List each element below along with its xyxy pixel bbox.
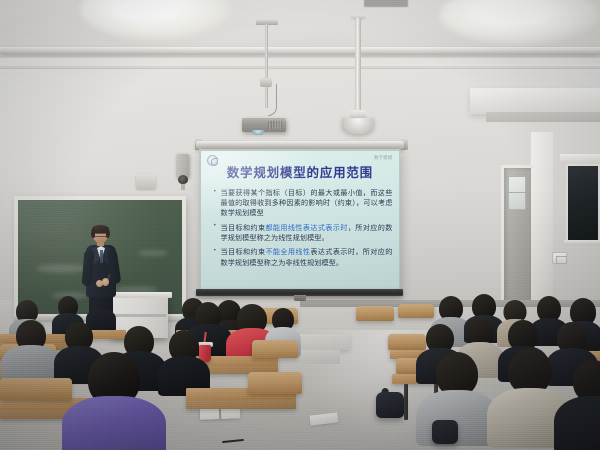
presentation-slide: 数学建模 数学规划模型的应用范围 当要获得某个指标（目标）的最大或最小值，而这些…	[201, 151, 399, 289]
wall-pillar	[531, 132, 553, 314]
window	[566, 164, 600, 242]
student-purple-hoodie	[68, 352, 160, 450]
screen-pull-tab[interactable]	[294, 295, 306, 301]
ceiling-vent	[364, 0, 408, 7]
projection-screen-surface: 数学建模 数学规划模型的应用范围 当要获得某个指标（目标）的最大或最小值，而这些…	[201, 151, 399, 289]
lecturer-hair-side-right	[106, 229, 110, 238]
university-emblem-icon	[207, 155, 218, 166]
list-item	[160, 330, 208, 392]
door-glass-divider	[508, 192, 526, 193]
chair-back	[252, 340, 298, 358]
ceiling-soffit	[470, 88, 600, 114]
platform-step-upper	[300, 334, 350, 350]
window-sill	[564, 240, 600, 245]
body-text: 当目标和约束	[221, 247, 266, 256]
list-item	[558, 360, 600, 450]
slide-watermark: 数学建模	[374, 155, 392, 161]
ceiling-light-right-core	[480, 8, 550, 25]
camera-mount	[181, 184, 185, 190]
lecturer-tie	[100, 250, 103, 263]
highlighted-text: 不能全用线性	[265, 247, 310, 256]
screen-roller-housing	[196, 141, 404, 149]
slide-bullet-list: 当要获得某个指标（目标）的最大或最小值，而这些最值的取得收到多种因素的影响时（约…	[208, 188, 393, 267]
chair-back	[356, 306, 394, 321]
slide-bullet: 当目标和约束都能用线性表达式表示时，所对应的数学规划模型称之为线性规划模型。	[212, 223, 393, 243]
chalk-smudge	[138, 250, 168, 256]
wall-speaker	[136, 174, 156, 189]
desk-leg	[404, 384, 408, 420]
backpack	[432, 420, 458, 444]
camera-lens	[178, 175, 188, 184]
window-top-trim	[560, 154, 600, 163]
classroom-photo: 数学建模 数学规划模型的应用范围 当要获得某个指标（目标）的最大或最小值，而这些…	[0, 0, 600, 450]
highlighted-text: 都能用线性表达式表示时	[265, 223, 347, 232]
ceiling-fan	[342, 118, 374, 134]
platform-step-lower	[300, 350, 340, 364]
projection-screen: 数学建模 数学规划模型的应用范围 当要获得某个指标（目标）的最大或最小值，而这些…	[199, 149, 400, 290]
wall-trim-band	[0, 64, 600, 69]
ceiling-light-left-core	[112, 4, 178, 20]
slide-bullet: 当目标和约束不能全用线性表达式表示时，所对应的数学规划模型称之为非线性规划模型。	[212, 247, 393, 267]
student-gray-hoodie-left	[4, 320, 58, 384]
lecturer-hand-right	[102, 278, 109, 286]
chair-back	[0, 378, 72, 400]
ceiling-soffit-face	[486, 112, 600, 122]
body-text: 当目标和约束	[221, 223, 266, 232]
fan-pole	[355, 18, 361, 118]
backpack	[376, 392, 404, 418]
projector-cable	[268, 84, 277, 116]
chair-back	[248, 372, 302, 394]
desk	[186, 400, 296, 409]
student-body	[554, 396, 600, 450]
projector-vent	[268, 121, 282, 129]
body-text: 当要获得某个指标（目标）的最大或最小值，而这些最值的取得收到多种因素的影响时（约…	[221, 188, 393, 217]
slide-bullet: 当要获得某个指标（目标）的最大或最小值，而这些最值的取得收到多种因素的影响时（约…	[212, 188, 393, 218]
lecturer-hair-side-left	[91, 229, 95, 238]
ceiling-beam-upper	[0, 47, 600, 54]
slide-title: 数学规划模型的应用范围	[208, 166, 393, 181]
chair-back	[398, 304, 434, 318]
projector-lens	[252, 130, 264, 135]
power-outlet[interactable]	[552, 252, 567, 264]
student-body	[62, 396, 166, 450]
